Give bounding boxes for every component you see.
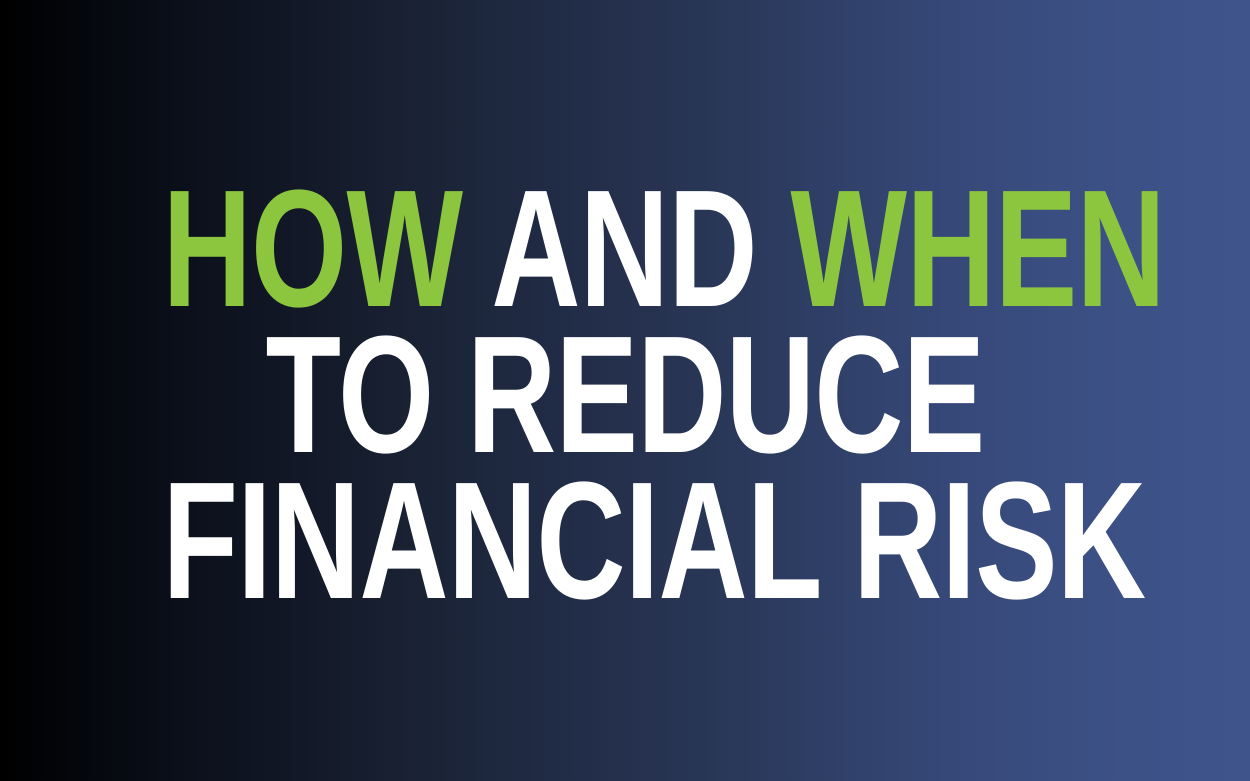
headline-line-1: HOW AND WHEN [163,176,1088,322]
headline-line-2: TO REDUCE [163,322,1088,468]
poster-canvas: HOW AND WHEN TO REDUCE FINANCIAL RISK [0,0,1250,781]
headline-word-financial: FINANCIAL [163,448,820,634]
headline-block: HOW AND WHEN TO REDUCE FINANCIAL RISK [0,176,1250,614]
headline-line-3: FINANCIAL RISK [163,468,1088,614]
headline-word-risk: RISK [853,448,1145,634]
headline-space [819,448,853,634]
